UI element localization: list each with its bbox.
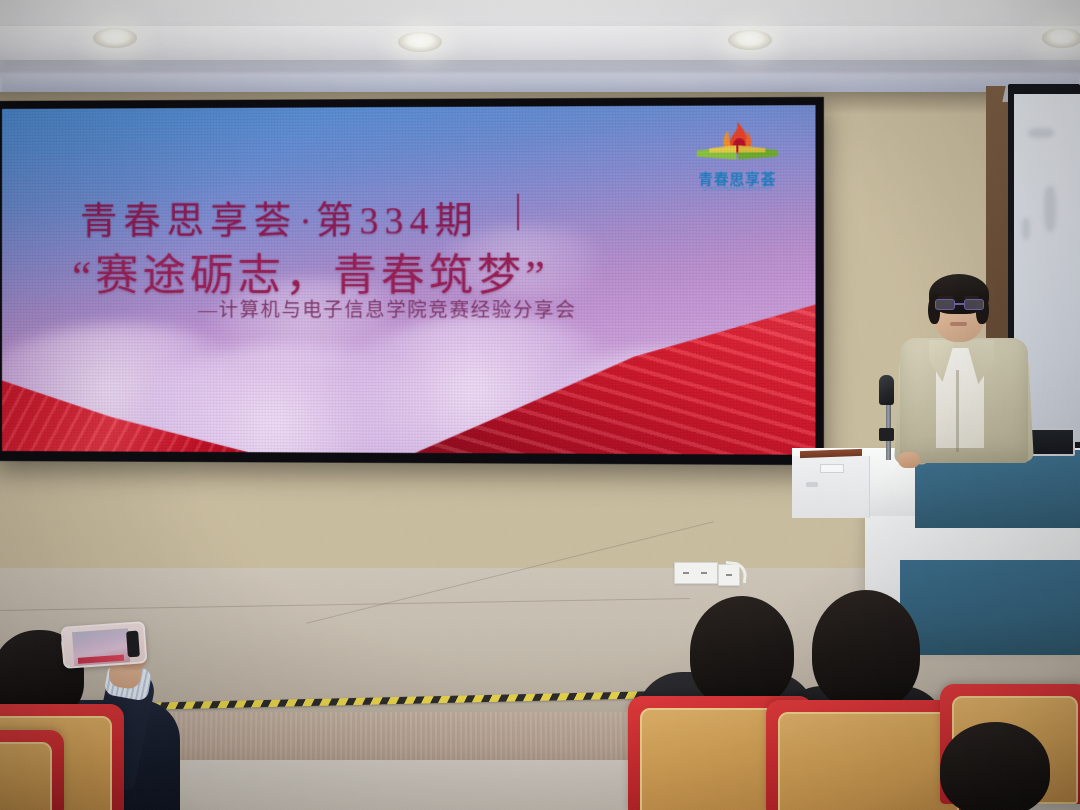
torch-book-icon [682, 120, 792, 171]
slide-issue-number: 第334期 [316, 201, 479, 243]
audience-member-1-head [690, 596, 794, 708]
glasses-icon [934, 299, 985, 310]
led-display-screen: 青春思享荟 QINGCHUNSIXIANGHUI 青春思享荟·第334期 “赛途… [2, 105, 816, 455]
ceiling-soffit [0, 26, 1080, 60]
slide-logo: 青春思享荟 QINGCHUNSIXIANGHUI [682, 120, 792, 200]
microphone-clip [879, 428, 894, 441]
ceiling-downlight-icon [93, 28, 137, 48]
smartphone-screen [72, 628, 130, 666]
photo-scene: 青春思享荟 QINGCHUNSIXIANGHUI 青春思享荟·第334期 “赛途… [0, 0, 1080, 810]
slide-title-separator: · [297, 201, 316, 242]
podium-lower-panel [900, 560, 1080, 655]
wall-outlet-left [674, 562, 718, 584]
ceiling-downlight-icon [728, 30, 772, 50]
smartphone[interactable] [61, 621, 148, 669]
slide-title-line: 青春思享荟·第334期 [80, 190, 479, 245]
smartphone-camera-ui[interactable] [126, 631, 140, 658]
slide-quote: “赛途砺志，青春筑梦” [72, 240, 549, 303]
audience-member-3-head [940, 722, 1050, 810]
presenter-jacket-placket [956, 370, 959, 452]
slide-subtitle: —计算机与电子信息学院竞赛经验分享会 [198, 295, 577, 323]
presenter-hand [898, 452, 920, 468]
ceiling [0, 0, 1080, 96]
audience-member-2-head [812, 590, 920, 710]
ceiling-downlight-icon [398, 32, 442, 52]
podium-drawer-handle[interactable] [806, 482, 818, 487]
microphone-icon [879, 375, 894, 405]
slide-title-rule [517, 194, 519, 231]
podium-latch[interactable] [820, 464, 844, 473]
ceiling-downlight-icon [1042, 28, 1080, 48]
led-display-bezel: 青春思享荟 QINGCHUNSIXIANGHUI 青春思享荟·第334期 “赛途… [0, 97, 824, 465]
logo-pinyin: QINGCHUNSIXIANGHUI [682, 186, 792, 192]
auditorium-seat[interactable] [0, 730, 64, 810]
presenter-mouth [950, 322, 967, 326]
slide-title-brand: 青春思享荟 [80, 201, 297, 243]
